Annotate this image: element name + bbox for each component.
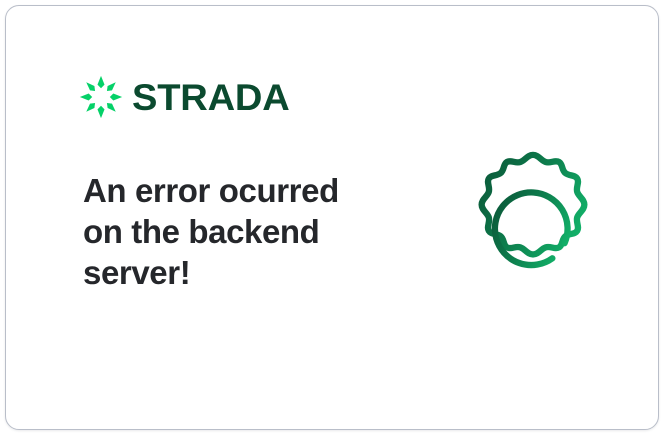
brand-wordmark: STRADA: [132, 79, 290, 116]
error-card: STRADA An error ocurred on the backend s…: [5, 5, 659, 430]
error-screen: STRADA An error ocurred on the backend s…: [0, 0, 666, 436]
error-message: An error ocurred on the backend server!: [83, 170, 383, 293]
gear-loading-icon: [454, 145, 612, 307]
gear-illustration: [454, 145, 612, 307]
strada-asterisk-icon: [79, 75, 123, 119]
brand-lockup: STRADA: [79, 74, 285, 120]
